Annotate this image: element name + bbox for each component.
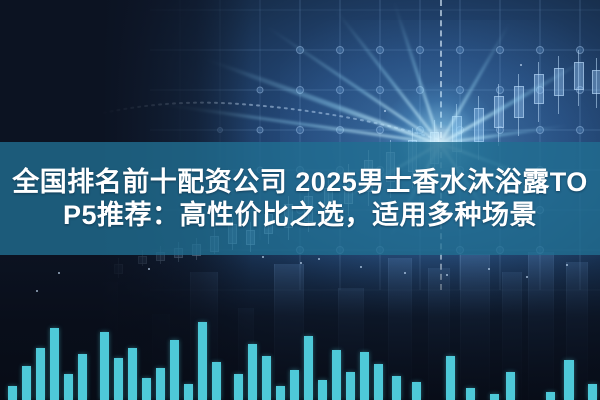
- banner-image: 全国排名前十配资公司 2025男士香水沐浴露TO P5推荐：高性价比之选，适用多…: [0, 0, 600, 400]
- headline-line-2: P5推荐：高性价比之选，适用多种场景: [63, 199, 537, 232]
- headline-line-1: 全国排名前十配资公司 2025男士香水沐浴露TO: [12, 166, 588, 199]
- headline-band: 全国排名前十配资公司 2025男士香水沐浴露TO P5推荐：高性价比之选，适用多…: [0, 142, 600, 255]
